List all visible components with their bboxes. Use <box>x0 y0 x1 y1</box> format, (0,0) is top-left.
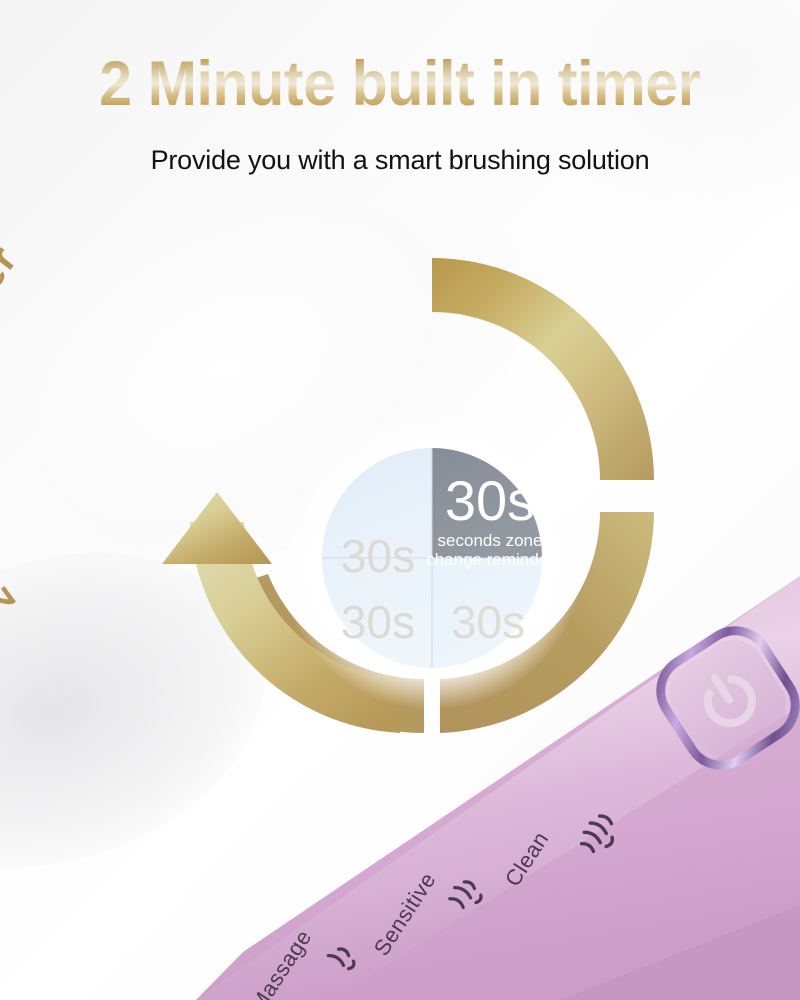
page-title: 2 Minute built in timer <box>99 52 700 116</box>
mode-label-sensitive: Sensitive <box>369 868 441 960</box>
page-subtitle: Provide you with a smart brushing soluti… <box>0 145 800 176</box>
arrow-head <box>162 492 272 564</box>
brush-mode-sensitive: Sensitive <box>369 868 485 960</box>
timer-label-top-left: 30s <box>341 530 415 582</box>
timer-label-bottom-left: 30s <box>341 596 415 648</box>
active-caption-line-2: change reminder <box>426 550 554 569</box>
smart-timer-diagram: 30s 30s 30s 30s seconds zone change remi… <box>40 190 680 830</box>
timer-label-top-right: 30s <box>445 469 535 532</box>
timer-label-bottom-right: 30s <box>451 596 525 648</box>
headline-container: 2 Minute built in timer <box>0 52 800 116</box>
power-icon <box>696 666 760 732</box>
mode-label-clean: Clean <box>500 827 554 891</box>
arc-label-text: 2 Mins smart timer <box>0 238 26 624</box>
brush-mode-massage: Massage <box>245 925 358 1000</box>
arc-label: 2 Mins smart timer <box>0 238 26 624</box>
wave-icon-massage <box>328 944 358 970</box>
active-caption-line-1: seconds zone <box>438 531 543 550</box>
brush-body-shadow <box>560 905 800 1000</box>
wave-icon-sensitive <box>448 877 485 913</box>
product-feature-poster: 2 Minute built in timer Provide you with… <box>0 0 800 1000</box>
mode-label-massage: Massage <box>245 925 316 1000</box>
